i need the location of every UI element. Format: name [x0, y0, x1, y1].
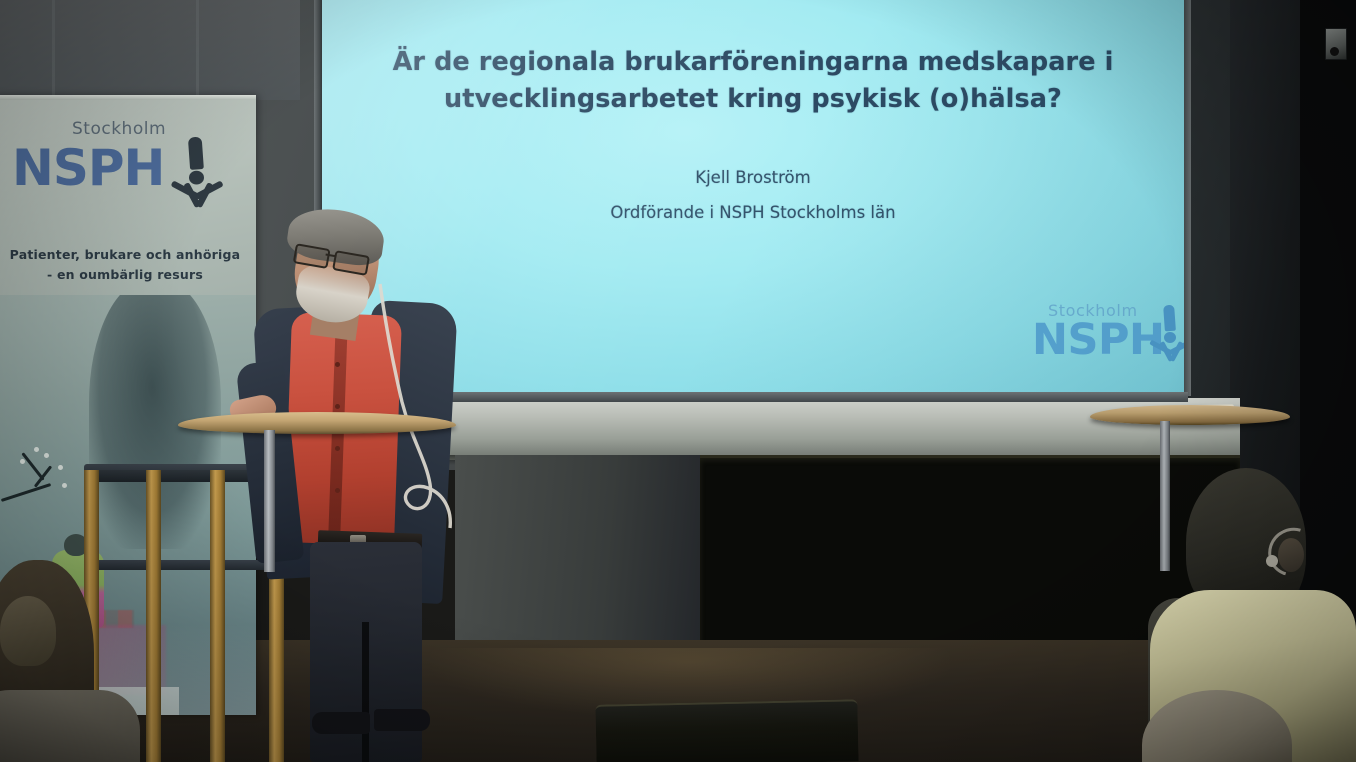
banner-logo-region: Stockholm [72, 119, 166, 139]
stool-leg [146, 470, 161, 762]
banner-tagline-line-2: - en oumbärlig resurs [0, 267, 256, 282]
slide-title-line-1: Är de regionala brukarföreningarna medsk… [393, 47, 1114, 77]
table-pedestal [1160, 421, 1170, 571]
slide-title: Är de regionala brukarföreningarna medsk… [322, 44, 1184, 118]
slide-nsph-logo: Stockholm NSPH [1012, 301, 1184, 383]
speaker-side-table [178, 412, 456, 572]
slide-logo-wordmark: NSPH [1032, 315, 1164, 365]
table-pedestal [264, 430, 275, 572]
microphone-capsule-icon [1266, 555, 1278, 567]
audience-chair-back [595, 699, 858, 762]
audience-person-hair-bun [0, 596, 56, 666]
recess-side-wall [455, 455, 703, 670]
light-switch-plate[interactable] [1325, 28, 1347, 60]
wall-panel-upper-left [0, 0, 300, 100]
speaker-shoe-right [374, 709, 430, 731]
speaker-shoe-left [312, 712, 370, 734]
video-frame: Är de regionala brukarföreningarna medsk… [0, 0, 1356, 762]
table-top [178, 412, 456, 434]
banner-tagline-line-1: Patienter, brukare och anhöriga [0, 247, 256, 262]
banner-top-edge [0, 95, 256, 100]
slide-author: Kjell Broström [322, 168, 1184, 187]
table-top [1090, 405, 1290, 425]
speaker-leg-gap [362, 622, 369, 762]
banner-illustration-branch [0, 445, 78, 545]
audience-person-shoulder-left [0, 690, 140, 762]
banner-logo-wordmark: NSPH [12, 139, 164, 197]
slide-title-line-2: utvecklingsarbetet kring psykisk (o)häls… [322, 81, 1184, 118]
